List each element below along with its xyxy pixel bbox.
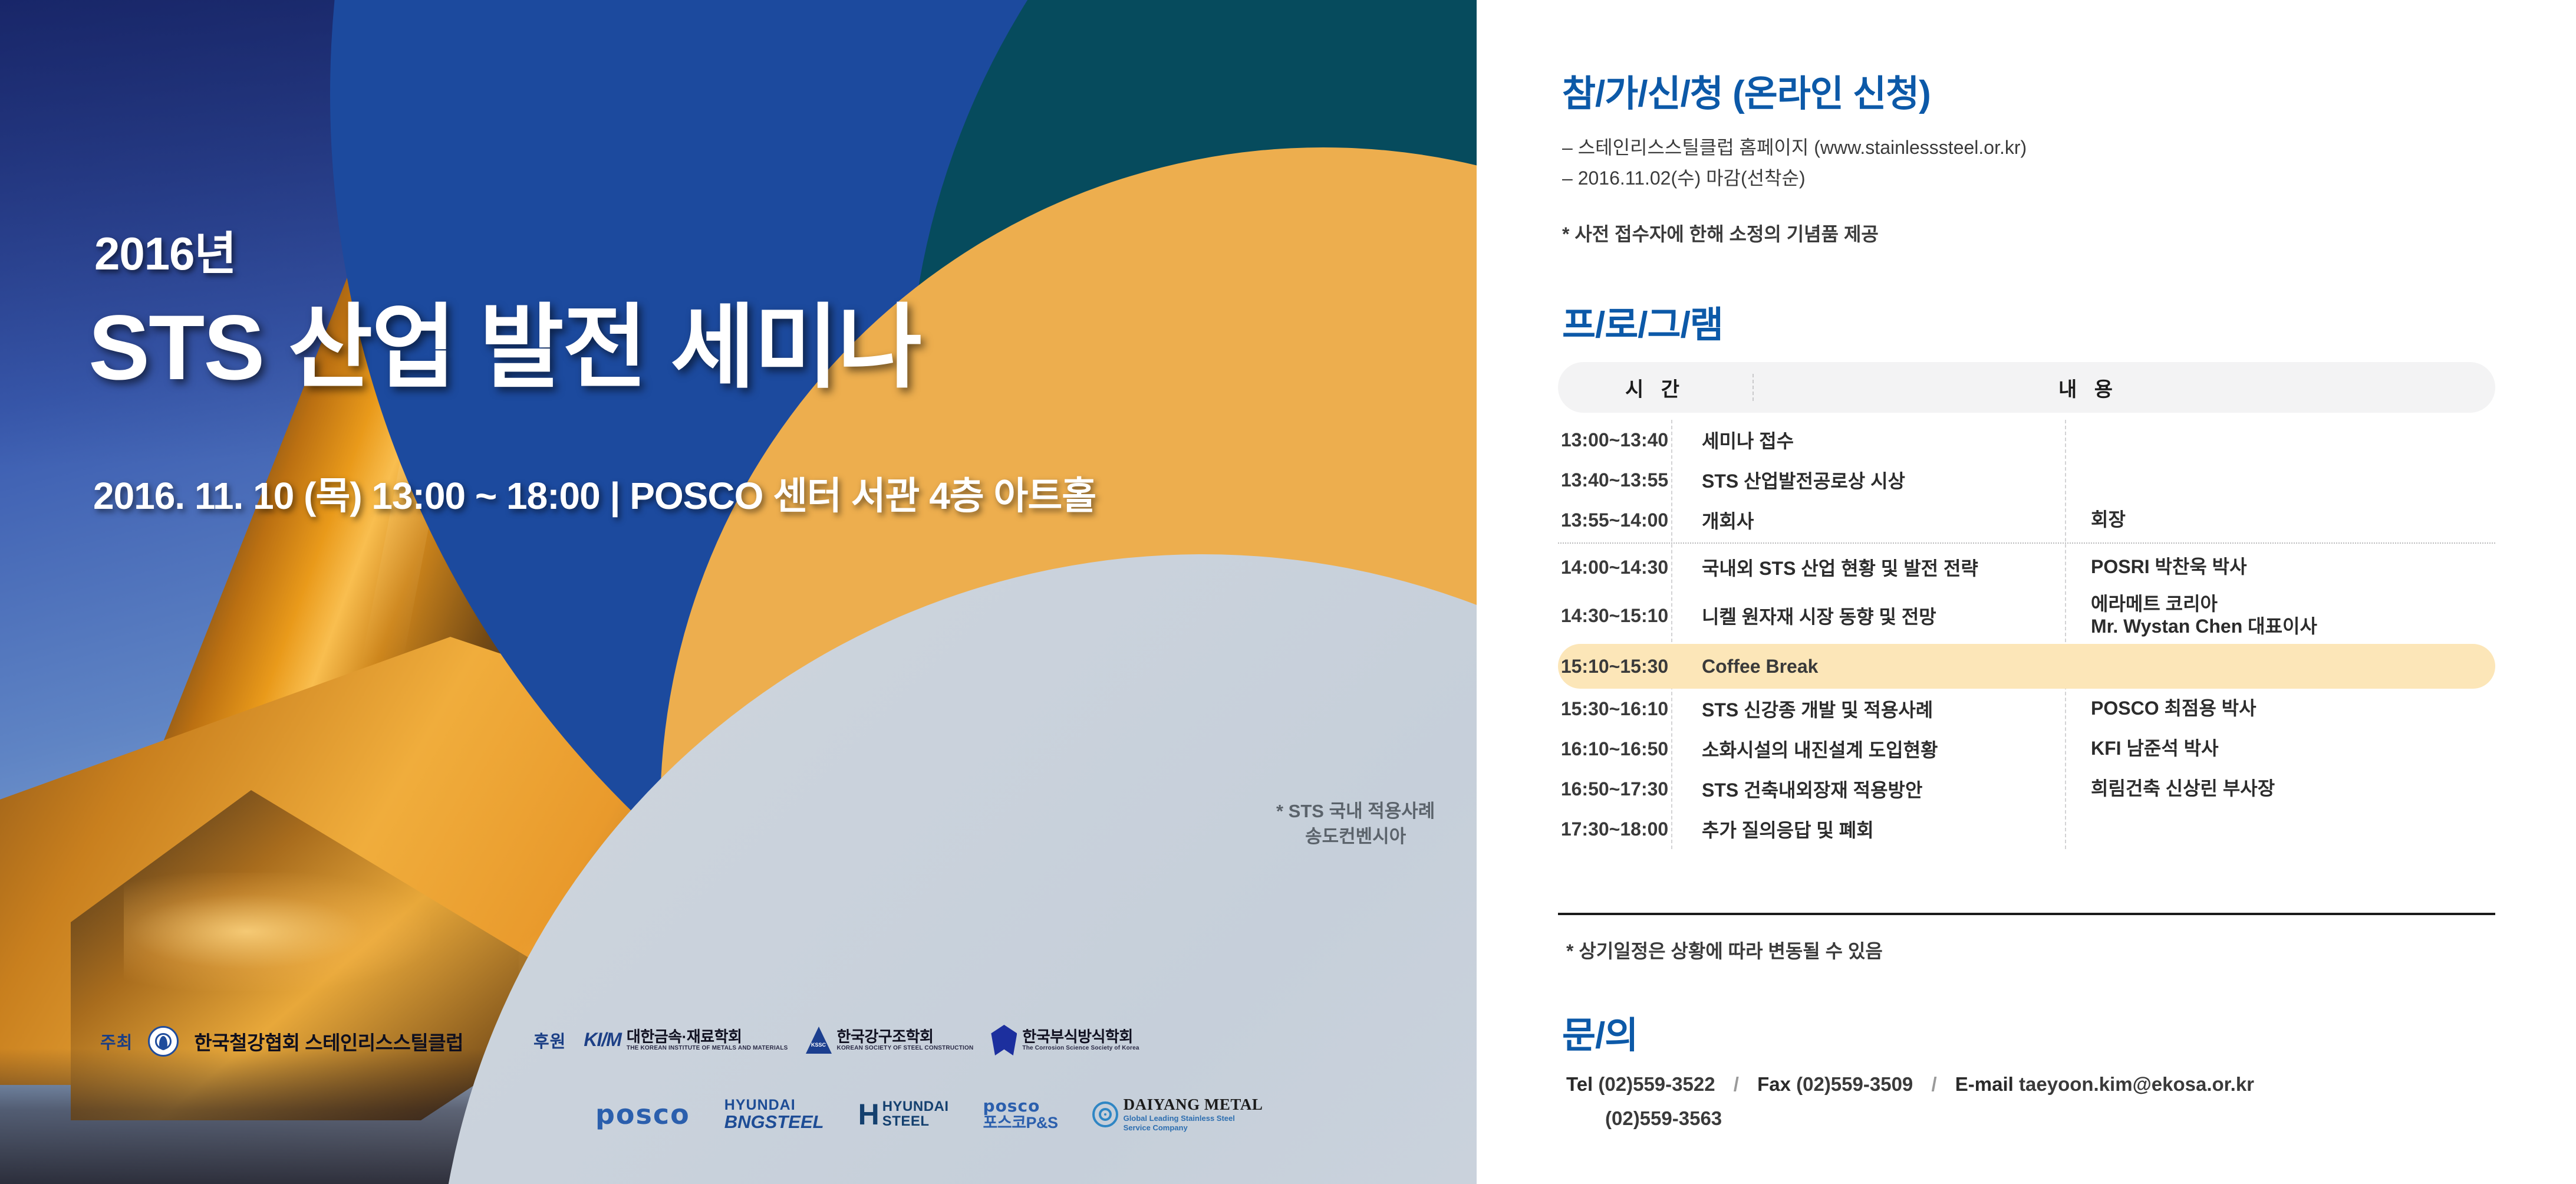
logo-posco: posco — [595, 1099, 690, 1130]
apply-note: * 사전 접수자에 한해 소정의 기념품 제공 — [1562, 219, 1879, 246]
row-speaker: KFI 남준석 박사 — [2065, 738, 2495, 760]
contact-line-primary: Tel (02)559-3522 / Fax (02)559-3509 / E-… — [1566, 1073, 2254, 1096]
kssc-name-ko: 한국강구조학회 — [837, 1029, 974, 1045]
program-section-heading: 프/로/그/램 — [1562, 295, 1723, 348]
table-row: 13:55~14:00 개회사 회장 — [1558, 500, 2495, 540]
logo-daiyang-metal: DAIYANG METAL Global Leading Stainless S… — [1092, 1096, 1263, 1133]
table-row: 14:00~14:30 국내외 STS 산업 현황 및 발전 전략 POSRI … — [1558, 547, 2495, 587]
row-speaker: 에라메트 코리아 Mr. Wystan Chen 대표이사 — [2065, 593, 2495, 638]
apply-item: – 2016.11.02(수) 마감(선착순) — [1562, 163, 2027, 194]
row-time: 14:30~15:10 — [1558, 605, 1671, 627]
hero-title: STS 산업 발전 세미나 — [88, 272, 921, 406]
row-topic: 추가 질의응답 및 폐회 — [1671, 815, 2065, 843]
row-time: 14:00~14:30 — [1558, 557, 1671, 578]
logo-hyundai-steel: H HYUNDAI STEEL — [858, 1100, 949, 1129]
host-label: 주최 — [100, 1029, 133, 1054]
row-speaker: 희림건축 신상린 부사장 — [2065, 778, 2495, 800]
kim-name-ko: 대한금속·재료학회 — [627, 1029, 788, 1045]
table-row-coffee-break: 15:10~15:30 Coffee Break — [1558, 644, 2495, 689]
logo-kssc: 한국강구조학회 KOREAN SOCIETY OF STEEL CONSTRUC… — [806, 1027, 974, 1054]
supporter-row: 후원 KI/M 대한금속·재료학회 THE KOREAN INSTITUTE O… — [533, 1025, 1139, 1055]
table-bottom-rule — [1558, 913, 2495, 915]
row-time: 15:10~15:30 — [1558, 656, 1671, 677]
logo-cssk: 한국부식방식학회 The Corrosion Science Society o… — [991, 1025, 1139, 1055]
contact-separator-2: / — [1918, 1073, 1949, 1095]
kim-mark-icon: KI/M — [584, 1029, 621, 1051]
row-topic: 국내외 STS 산업 현황 및 발전 전략 — [1671, 554, 2065, 581]
program-note: * 상기일정은 상황에 따라 변동될 수 있음 — [1566, 936, 1883, 963]
row-topic: 개회사 — [1671, 507, 2065, 534]
program-table-header: 시 간 내 용 — [1558, 362, 2495, 413]
hero-datetime-venue: 2016. 11. 10 (목) 13:00 ~ 18:00 | POSCO 센… — [93, 466, 1096, 520]
table-row: 14:30~15:10 니켈 원자재 시장 동향 및 전망 에라메트 코리아 M… — [1558, 587, 2495, 644]
row-speaker: POSRI 박찬욱 박사 — [2065, 556, 2495, 578]
apply-section-heading: 참/가/신/청 (온라인 신청) — [1562, 64, 1931, 117]
table-row: 16:50~17:30 STS 건축내외장재 적용방안 희림건축 신상린 부사장 — [1558, 769, 2495, 809]
kssc-triangle-icon — [806, 1027, 832, 1054]
pns-bottom-text: 포스코P&S — [983, 1114, 1058, 1131]
host-organization-name: 한국철강협회 스테인리스스틸클럽 — [194, 1027, 463, 1055]
hyundai-steel-bottom-text: STEEL — [882, 1114, 949, 1129]
apply-item: – 스테인리스스틸클럽 홈페이지 (www.stainlesssteel.or.… — [1562, 133, 2027, 163]
kssc-name-en: KOREAN SOCIETY OF STEEL CONSTRUCTION — [837, 1045, 974, 1051]
daiyang-tagline: Global Leading Stainless Steel Service C… — [1124, 1114, 1263, 1133]
row-time: 16:10~16:50 — [1558, 738, 1671, 760]
row-time: 16:50~17:30 — [1558, 778, 1671, 800]
fax-value: (02)559-3509 — [1796, 1073, 1913, 1095]
table-row: 13:00~13:40 세미나 접수 — [1558, 420, 2495, 460]
photo-credit-line-2: 송도컨벤시아 — [1276, 824, 1435, 850]
email-label: E-mail — [1955, 1073, 2014, 1095]
ksa-seal-icon — [148, 1026, 179, 1057]
program-table-body: 13:00~13:40 세미나 접수 13:40~13:55 STS 산업발전공… — [1558, 420, 2495, 849]
logo-hyundai-bng-steel: HYUNDAI BNGSTEEL — [724, 1098, 824, 1131]
row-topic: 소화시설의 내진설계 도입현황 — [1671, 735, 2065, 762]
column-header-content: 내 용 — [1753, 373, 2495, 402]
host-row: 주최 한국철강협회 스테인리스스틸클럽 — [100, 1026, 463, 1057]
seminar-poster: 2016년 STS 산업 발전 세미나 2016. 11. 10 (목) 13:… — [0, 0, 2576, 1184]
daiyang-target-icon — [1092, 1101, 1118, 1127]
row-time: 15:30~16:10 — [1558, 698, 1671, 720]
row-time: 13:55~14:00 — [1558, 509, 1671, 531]
row-topic: 니켈 원자재 시장 동향 및 전망 — [1671, 602, 2065, 629]
header-column-divider — [1753, 374, 1754, 401]
tel-label: Tel — [1566, 1073, 1593, 1095]
photo-credit-line-1: * STS 국내 적용사례 — [1276, 799, 1435, 824]
row-time: 17:30~18:00 — [1558, 818, 1671, 840]
partner-logo-row: posco HYUNDAI BNGSTEEL H HYUNDAI STEEL p… — [595, 1096, 1263, 1133]
contact-separator-1: / — [1721, 1073, 1752, 1095]
logo-kim: KI/M 대한금속·재료학회 THE KOREAN INSTITUTE OF M… — [584, 1029, 788, 1051]
daiyang-name: DAIYANG METAL — [1124, 1096, 1263, 1114]
sponsor-strip: 주최 한국철강협회 스테인리스스틸클럽 후원 KI/M 대한금속·재료학회 TH… — [0, 1007, 1477, 1184]
tel-value: (02)559-3522 — [1598, 1073, 1715, 1095]
cssk-diamond-icon — [991, 1025, 1017, 1055]
tel-value-secondary: (02)559-3563 — [1605, 1107, 1722, 1130]
details-panel: 참/가/신/청 (온라인 신청) – 스테인리스스틸클럽 홈페이지 (www.s… — [1477, 0, 2576, 1184]
row-topic: STS 건축내외장재 적용방안 — [1671, 775, 2065, 803]
row-speaker: 회장 — [2065, 509, 2495, 531]
table-row: 13:40~13:55 STS 산업발전공로상 시상 — [1558, 460, 2495, 500]
row-topic: Coffee Break — [1671, 656, 2065, 677]
fax-label: Fax — [1757, 1073, 1791, 1095]
hyundai-steel-top-text: HYUNDAI — [882, 1100, 949, 1114]
photo-credit: * STS 국내 적용사례 송도컨벤시아 — [1276, 799, 1435, 850]
row-topic: STS 산업발전공로상 시상 — [1671, 466, 2065, 494]
row-topic: STS 신강종 개발 및 적용사례 — [1671, 695, 2065, 722]
cssk-name-ko: 한국부식방식학회 — [1022, 1029, 1139, 1045]
program-table: 시 간 내 용 13:00~13:40 세미나 접수 13:40~13:55 S… — [1558, 362, 2495, 849]
pns-top-text: posco — [983, 1097, 1058, 1114]
bng-bottom-text: BNGSTEEL — [724, 1113, 824, 1131]
table-row: 16:10~16:50 소화시설의 내진설계 도입현황 KFI 남준석 박사 — [1558, 729, 2495, 769]
email-value[interactable]: taeyoon.kim@ekosa.or.kr — [2019, 1073, 2254, 1095]
table-row: 15:30~16:10 STS 신강종 개발 및 적용사례 POSCO 최점용 … — [1558, 689, 2495, 729]
column-header-time: 시 간 — [1558, 373, 1753, 402]
row-speaker: POSCO 최점용 박사 — [2065, 698, 2495, 720]
support-label: 후원 — [533, 1028, 566, 1053]
bng-top-text: HYUNDAI — [724, 1098, 824, 1113]
logo-posco-pns: posco 포스코P&S — [983, 1097, 1058, 1132]
row-time: 13:40~13:55 — [1558, 469, 1671, 491]
hero-visual-panel: 2016년 STS 산업 발전 세미나 2016. 11. 10 (목) 13:… — [0, 0, 1477, 1184]
apply-items-list: – 스테인리스스틸클럽 홈페이지 (www.stainlesssteel.or.… — [1562, 133, 2027, 194]
section-separator — [1558, 542, 2495, 544]
contact-section-heading: 문/의 — [1562, 1005, 1638, 1058]
row-time: 13:00~13:40 — [1558, 429, 1671, 451]
hyundai-h-mark-icon: H — [858, 1103, 879, 1126]
facade-glow-1 — [124, 873, 430, 991]
kim-name-en: THE KOREAN INSTITUTE OF METALS AND MATER… — [627, 1045, 788, 1051]
cssk-name-en: The Corrosion Science Society of Korea — [1022, 1045, 1139, 1051]
row-topic: 세미나 접수 — [1671, 426, 2065, 453]
table-row: 17:30~18:00 추가 질의응답 및 폐회 — [1558, 809, 2495, 849]
